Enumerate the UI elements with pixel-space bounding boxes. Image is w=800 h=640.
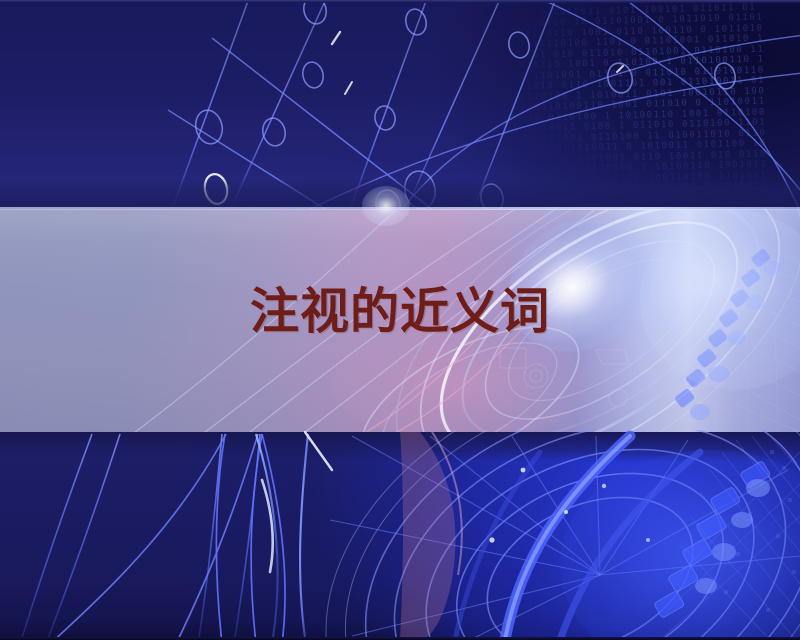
lower-dark-band <box>0 432 800 462</box>
title-container: 注视的近义词 <box>0 284 800 340</box>
page-title: 注视的近义词 <box>250 284 550 340</box>
top-edge-rule <box>0 0 800 3</box>
lower-data-strip-icon <box>654 461 771 619</box>
band-top-edge-line <box>0 207 800 210</box>
upper-dark-band <box>0 178 800 208</box>
banner-image: 01001010 0110 10 0010110100 011 0 10 011… <box>0 0 800 640</box>
bottom-right-glow <box>560 450 800 640</box>
